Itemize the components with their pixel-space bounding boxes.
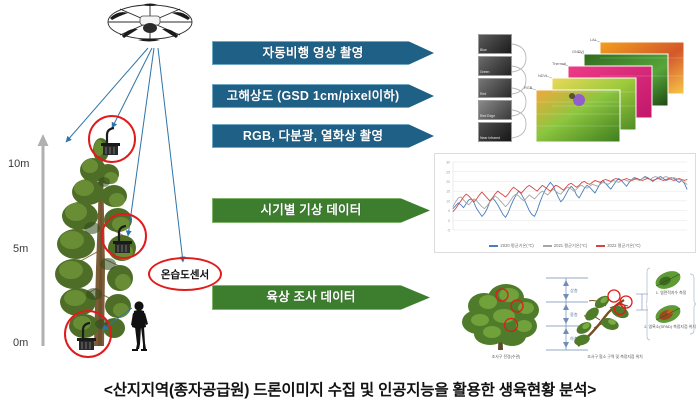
- band-thumbnail-red-label: Red: [480, 92, 486, 96]
- chart-legend-item: 2022 평균기온(℃): [596, 243, 640, 249]
- chart-legend-swatch: [489, 245, 498, 247]
- arrow-ground-survey-data-label: 육상 조사 데이터: [266, 291, 375, 304]
- svg-text:10: 10: [446, 199, 450, 203]
- arrow-weather-data[interactable]: 시기별 기상 데이터: [212, 198, 430, 223]
- svg-text:20: 20: [446, 180, 450, 184]
- band-thumbnail-red-edge-label: Red Edge: [480, 114, 495, 118]
- ground-survey-branch-caption: 조사구 협소 구역 및 측정지점 위치: [570, 354, 660, 360]
- svg-text:15: 15: [446, 190, 450, 194]
- band-thumbnail-red: Red: [478, 78, 512, 98]
- svg-text:-5: -5: [447, 229, 450, 233]
- ground-survey-tree: [454, 270, 546, 352]
- band-thumbnail-red-edge: Red Edge: [478, 100, 512, 120]
- arrow-high-resolution[interactable]: 고해상도 (GSD 1cm/pixel이하): [212, 84, 434, 108]
- chart-legend-label: 2021 평균기온(℃): [554, 243, 587, 249]
- chart-legend-item: 2020 평균기온(℃): [489, 243, 533, 249]
- band-thumbnail-nir-label: Near Infrared: [480, 136, 500, 140]
- band-thumbnail-green-label: Green: [480, 70, 489, 74]
- humidity-sensor-callout: 온습도센서: [148, 257, 222, 291]
- band-thumbnail-green: Green: [478, 56, 512, 76]
- plane-label-lai: LAI: [590, 38, 596, 42]
- ground-survey-panel: 상층 중층 하층 조사구 전경(수관): [444, 262, 696, 366]
- spectral-layer-planes: [524, 26, 694, 144]
- svg-text:5: 5: [448, 209, 450, 213]
- plane-label-gndvi: GNDVI: [572, 50, 584, 54]
- plane-label-rgb: RGB: [524, 86, 532, 90]
- sensor-device-middle: [110, 221, 138, 253]
- arrow-rgb-multispectral-thermal-label: RGB, 다분광, 열화상 촬영: [243, 130, 403, 143]
- weather-line-chart: 302520151050-5: [435, 154, 695, 252]
- plane-label-ndvi: NDVI: [538, 74, 547, 78]
- chart-legend-swatch: [543, 245, 552, 247]
- diagram-canvas: 10m 5m 0m: [0, 0, 700, 412]
- arrow-auto-flight-label: 자동비행 영상 촬영: [263, 47, 384, 60]
- chart-legend-label: 2022 평균기온(℃): [607, 243, 640, 249]
- weather-chart-panel: 302520151050-5 2020 평균기온(℃)2021 평균기온(℃)2…: [434, 153, 696, 253]
- arrow-weather-data-label: 시기별 기상 데이터: [261, 204, 382, 217]
- ground-survey-branch: [570, 276, 654, 352]
- chart-legend-label: 2020 평균기온(℃): [500, 243, 533, 249]
- surveyor-to-sensor-arrow: [96, 300, 142, 342]
- spectral-stack-panel: Blue Green Red Red Edge Near Infrared: [462, 24, 694, 142]
- chart-legend-swatch: [596, 245, 605, 247]
- plane-label-thermal: Thermal: [552, 62, 566, 66]
- humidity-sensor-label: 온습도센서: [161, 267, 209, 282]
- sensor-device-upper: [98, 123, 126, 155]
- svg-text:25: 25: [446, 170, 450, 174]
- arrow-high-resolution-label: 고해상도 (GSD 1cm/pixel이하): [227, 90, 420, 103]
- chart-legend-item: 2021 평균기온(℃): [543, 243, 587, 249]
- leaf-caption-2: 2. 엽록소(SPAD) 측정지점 위치: [644, 324, 696, 330]
- arrow-auto-flight[interactable]: 자동비행 영상 촬영: [212, 41, 434, 65]
- leaf-closeups: [646, 266, 696, 348]
- band-thumbnail-blue: Blue: [478, 34, 512, 54]
- band-thumbnail-nir: Near Infrared: [478, 122, 512, 142]
- arrow-ground-survey-data[interactable]: 육상 조사 데이터: [212, 285, 430, 310]
- arrow-rgb-multispectral-thermal[interactable]: RGB, 다분광, 열화상 촬영: [212, 124, 434, 148]
- leaf-caption-1: 1. 엽면적지수 측정: [648, 290, 694, 296]
- band-thumbnail-blue-label: Blue: [480, 48, 487, 52]
- figure-caption: <산지지역(종자공급원) 드론이미지 수집 및 인공지능을 활용한 생육현황 분…: [0, 378, 700, 400]
- ground-survey-tree-caption: 조사구 전경(수관): [466, 354, 546, 360]
- chart-legend: 2020 평균기온(℃)2021 평균기온(℃)2022 평균기온(℃): [435, 243, 695, 249]
- svg-text:30: 30: [446, 161, 450, 165]
- svg-text:0: 0: [448, 219, 450, 223]
